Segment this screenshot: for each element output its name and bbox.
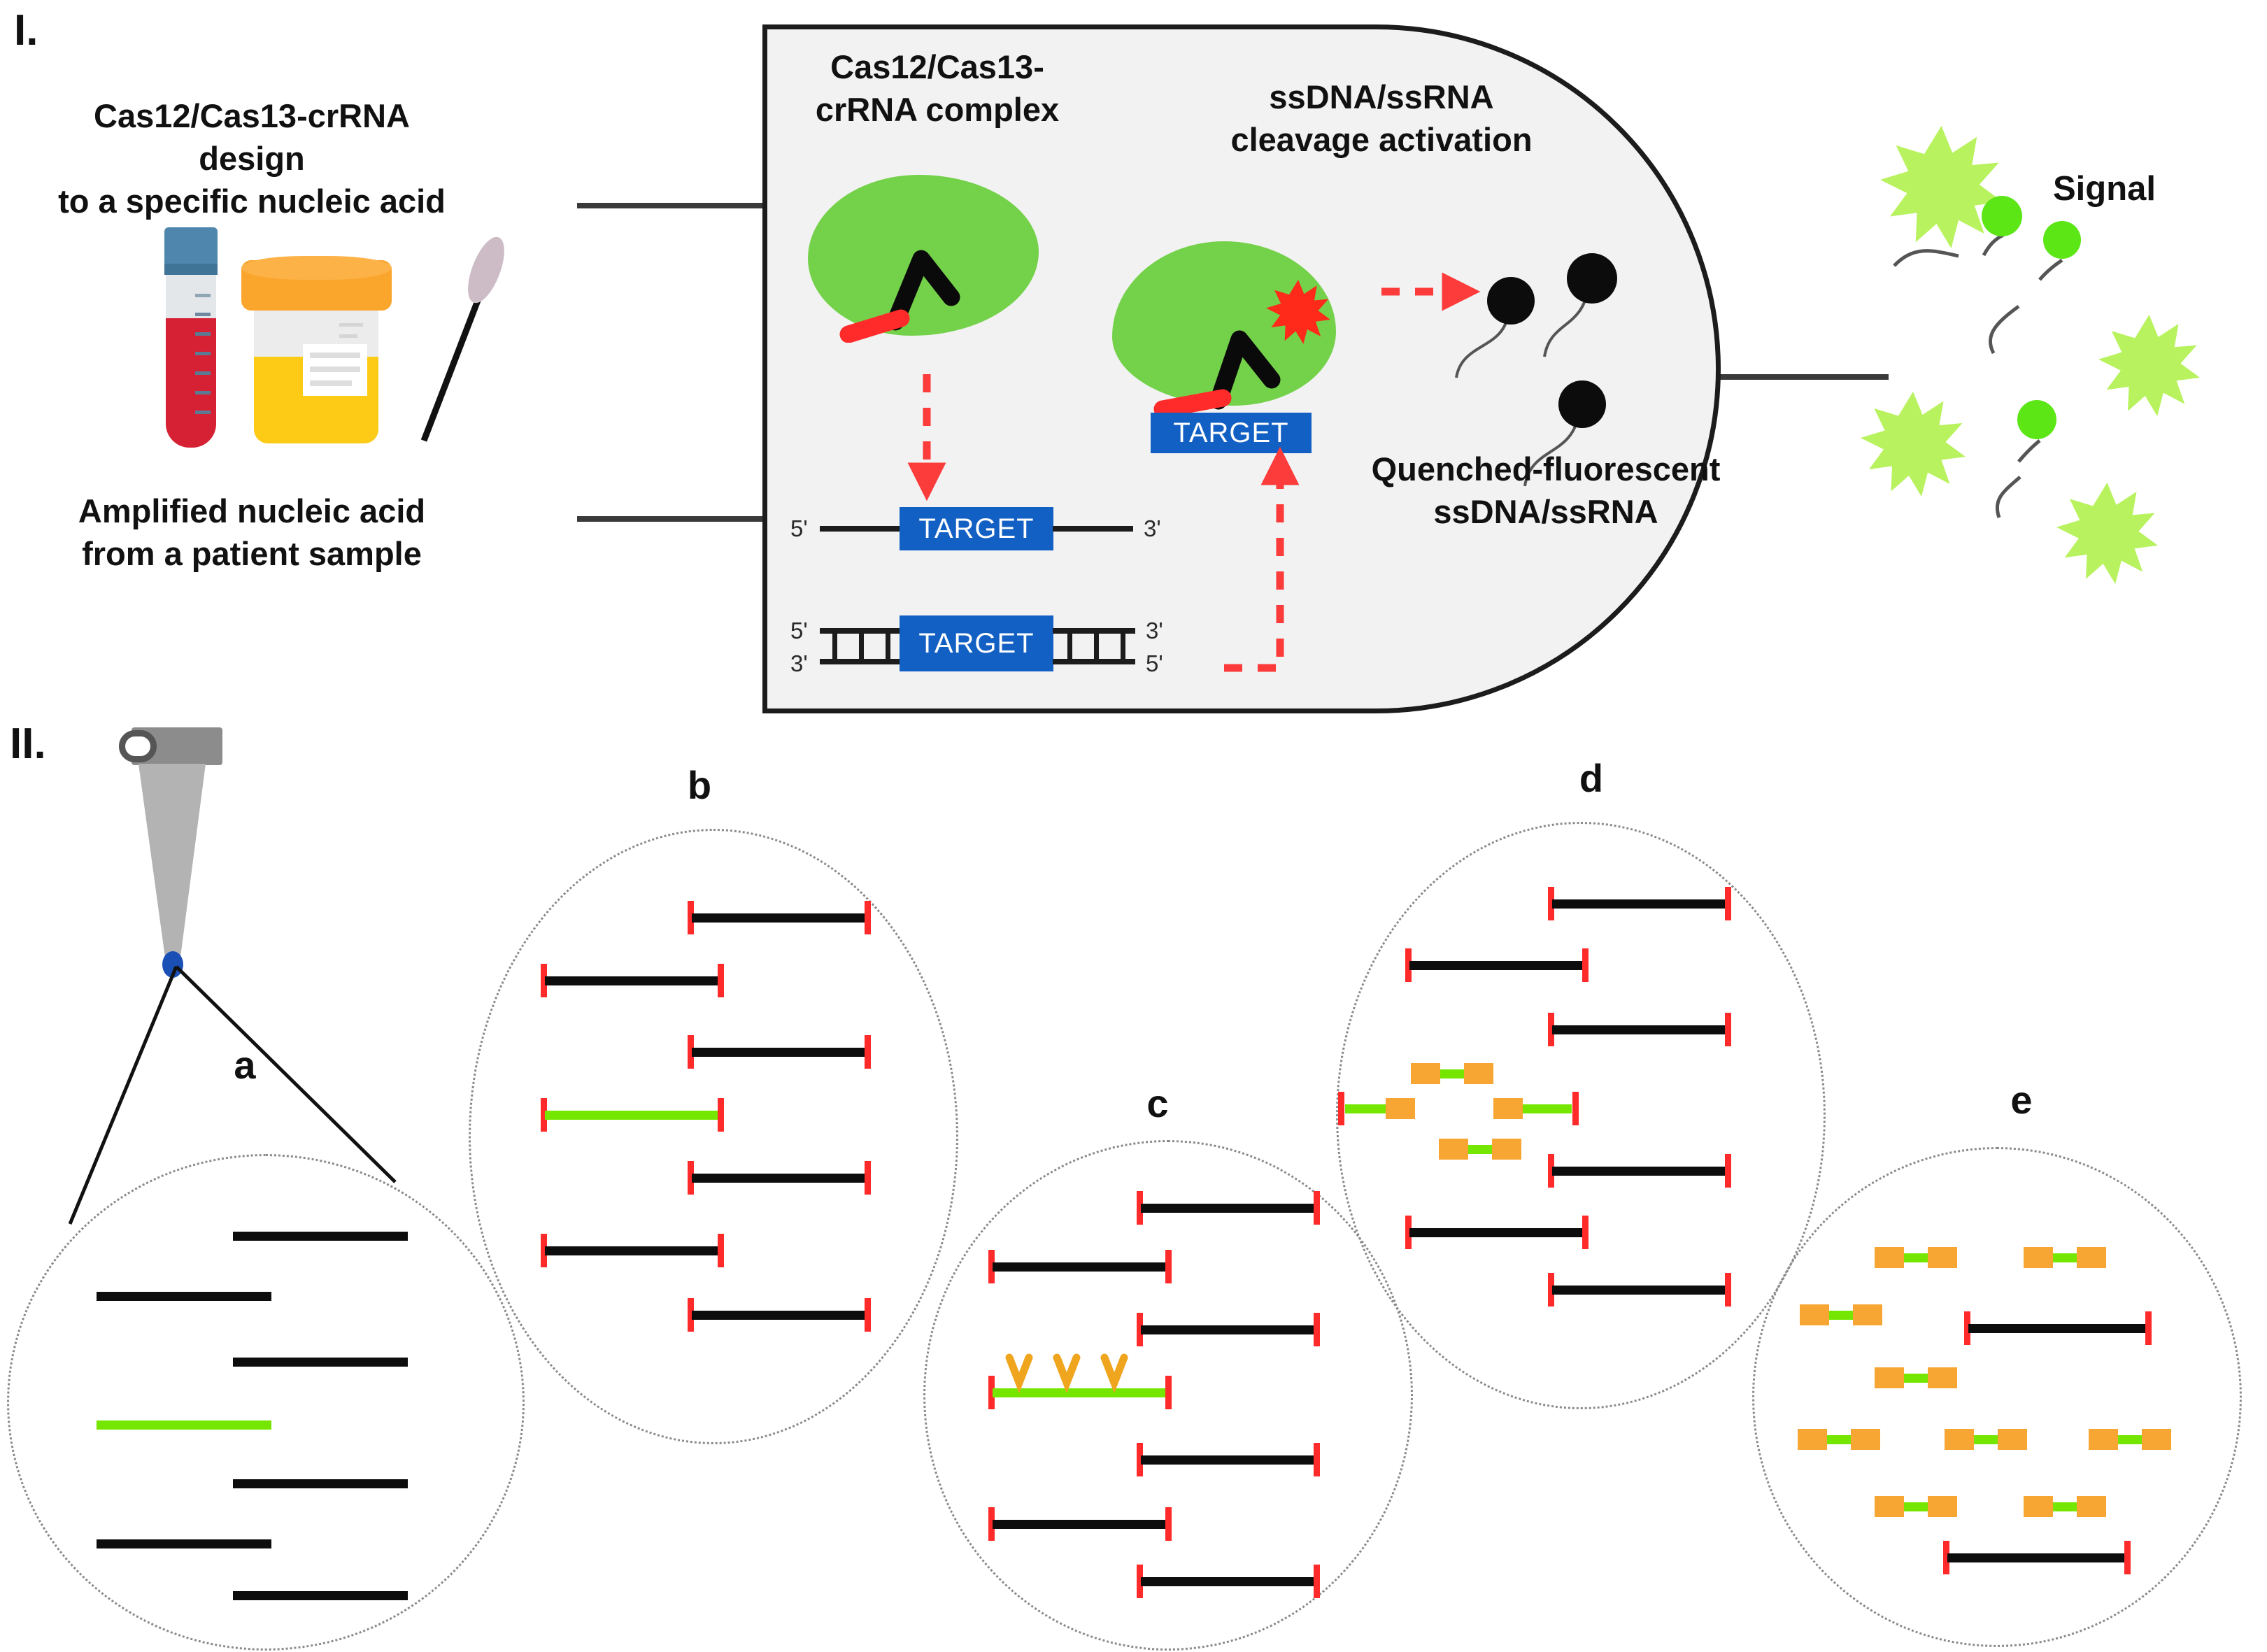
bubble-e (1752, 1147, 2242, 1647)
cleaved-fragment (1493, 1098, 1584, 1119)
cleaved-fragment (1439, 1139, 1521, 1160)
strand-target-green (97, 1420, 271, 1430)
sample-caption: Amplified nucleic acid from a patient sa… (42, 490, 462, 575)
ds-rung (1067, 628, 1072, 664)
bubble-label-e: e (1980, 1077, 2063, 1123)
ss-five-prime-label: 5' (790, 515, 808, 542)
double-stranded-target-row: 5' 3' TARGET 3' 5' (790, 615, 1224, 692)
ds-five-prime-right: 5' (1146, 650, 1163, 677)
target-label-dsdna: TARGET (900, 615, 1053, 671)
strand-black (233, 1358, 408, 1367)
bubble-b (469, 829, 958, 1444)
ds-rung (1121, 628, 1125, 664)
cleavage-activation-label: ssDNA/ssRNA cleavage activation (1228, 76, 1535, 161)
panel-label-one: I. (14, 6, 38, 55)
cleaved-fragment (1342, 1098, 1425, 1119)
cleaved-fragment (1875, 1367, 1957, 1388)
cleaved-fragment (2089, 1429, 2171, 1450)
bubble-label-d: d (1549, 755, 1633, 801)
cleaved-fragment (1411, 1063, 1493, 1084)
nasal-swab-icon (413, 231, 511, 455)
crrna-design-caption: Cas12/Cas13-crRNA design to a specific n… (42, 94, 462, 222)
cleaved-fragment (1945, 1429, 2027, 1450)
ds-three-prime-right: 3' (1146, 618, 1163, 644)
single-stranded-target-row: 5' TARGET 3' (790, 507, 1210, 556)
ds-rung (859, 628, 864, 664)
ds-five-prime-left: 5' (790, 618, 808, 644)
bubble-d (1336, 822, 1826, 1409)
ss-three-prime-label: 3' (1144, 515, 1161, 542)
figure-root: I. II. Cas12/Cas13-crRNA design to a spe… (0, 0, 2267, 1652)
panel-label-two: II. (10, 719, 46, 769)
urine-specimen-cup-icon (241, 245, 392, 455)
bubble-a (7, 1154, 525, 1651)
strand-black (97, 1292, 271, 1301)
pipette-tip-icon (105, 727, 266, 986)
bubble-c (923, 1140, 1413, 1651)
strand-black (233, 1479, 408, 1488)
strand-black (233, 1232, 408, 1241)
blood-collection-tube-icon (150, 227, 234, 451)
signal-label: Signal (2053, 169, 2156, 208)
strand-black (233, 1591, 408, 1600)
cas-crrna-complex-inactive (808, 175, 1046, 343)
cleaved-fragment (1800, 1304, 1882, 1325)
ds-rung (832, 628, 837, 664)
cleaved-fragment (2024, 1496, 2106, 1517)
cas-complex-label: Cas12/Cas13- crRNA complex (790, 45, 1084, 131)
cas-crrna-complex-activated (1112, 241, 1350, 416)
ss-backbone-left (820, 526, 900, 532)
cleaved-fragment (1875, 1496, 1957, 1517)
ss-backbone-right (1053, 526, 1133, 532)
target-label-ssdna: TARGET (900, 507, 1053, 550)
ds-rung (1094, 628, 1099, 664)
bubble-label-b: b (658, 762, 741, 808)
ds-three-prime-left: 3' (790, 650, 808, 677)
connector-line-bottom (577, 516, 766, 522)
bubble-label-a: a (203, 1042, 287, 1088)
ds-rung (886, 628, 890, 664)
bubble-label-c: c (1116, 1081, 1200, 1126)
cas-enzyme-icon (1002, 1353, 1156, 1393)
quenched-reporter-label: Quenched-fluorescent ssDNA/ssRNA (1350, 448, 1742, 533)
signal-output-group: Signal (1847, 112, 2238, 574)
connector-line-top (577, 203, 766, 208)
strand-black (97, 1539, 271, 1548)
cleaved-fragment (1798, 1429, 1880, 1450)
cleaved-fragment (2024, 1247, 2106, 1268)
target-label-bound: TARGET (1151, 413, 1312, 453)
cleaved-fragment (1875, 1247, 1957, 1268)
